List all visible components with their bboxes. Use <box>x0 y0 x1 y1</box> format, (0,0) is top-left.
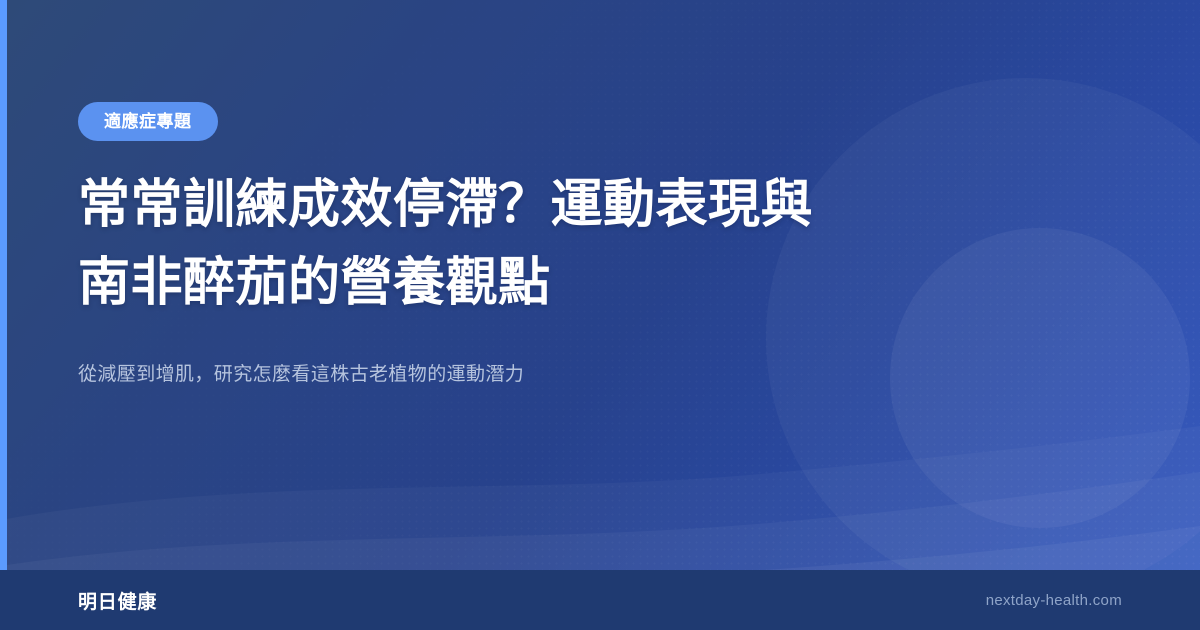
page-title-line-1: 常常訓練成效停滯？運動表現與 <box>78 176 813 234</box>
card-footer: 明日健康 nextday-health.com <box>0 570 1200 630</box>
left-accent-stripe <box>0 0 7 570</box>
page-title: 常常訓練成效停滯？運動表現與 南非醉茄的營養觀點 <box>78 166 908 322</box>
brand-name: 明日健康 <box>78 587 157 614</box>
card-content: 適應症專題 常常訓練成效停滯？運動表現與 南非醉茄的營養觀點 從減壓到增肌，研究… <box>78 0 978 570</box>
site-url: nextday-health.com <box>986 592 1122 609</box>
page-title-line-2: 南非醉茄的營養觀點 <box>78 254 551 312</box>
page-subtitle: 從減壓到增肌，研究怎麼看這株古老植物的運動潛力 <box>78 360 838 390</box>
og-banner-card: 適應症專題 常常訓練成效停滯？運動表現與 南非醉茄的營養觀點 從減壓到增肌，研究… <box>0 0 1200 630</box>
category-badge: 適應症專題 <box>78 102 218 141</box>
